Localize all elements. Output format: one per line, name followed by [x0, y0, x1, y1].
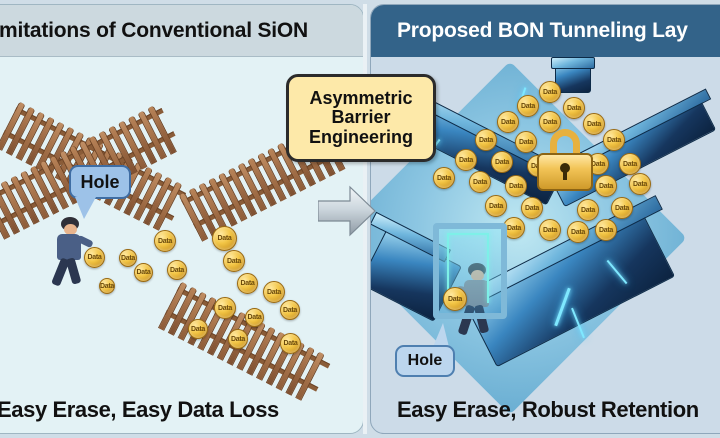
data-coin: Data — [603, 129, 625, 151]
data-coin: Data — [223, 250, 245, 272]
data-coin: Data — [245, 308, 264, 327]
data-coin: Data — [469, 171, 491, 193]
speech-bubble-hole-left-label: Hole — [80, 172, 119, 193]
speech-bubble-tail-right — [433, 323, 449, 347]
data-coin: Data — [237, 273, 258, 294]
data-coin: Data — [563, 97, 585, 119]
transition-arrow-icon — [318, 185, 376, 237]
tunnel-glow-line — [487, 233, 489, 303]
data-coin: Data — [280, 300, 300, 320]
data-coin: Data — [505, 175, 527, 197]
callout-line-1: Asymmetric — [309, 89, 412, 108]
callout-asymmetric-barrier-engineering: Asymmetric Barrier Engineering — [286, 74, 436, 162]
data-coin: Data — [263, 281, 285, 303]
panel-left-title-bar: mitations of Conventional SiON — [0, 5, 363, 57]
speech-bubble-hole-right: Hole — [395, 345, 455, 377]
speech-bubble-tail-left — [75, 197, 96, 219]
data-coin: Data — [485, 195, 507, 217]
padlock-keyhole — [560, 163, 570, 173]
figure-canvas: mitations of Conventional SiON — [0, 0, 720, 438]
data-coin: Data — [475, 129, 497, 151]
data-coin: Data — [619, 153, 641, 175]
data-coin: Data — [567, 221, 589, 243]
data-coin: Data — [539, 219, 561, 241]
data-coin: Data — [491, 151, 513, 173]
data-coin: Data — [228, 329, 248, 349]
data-coin: Data — [521, 197, 543, 219]
speech-bubble-hole-right-label: Hole — [408, 352, 443, 370]
data-coin: Data — [497, 111, 519, 133]
data-coin: Data — [629, 173, 651, 195]
panel-right-title: Proposed BON Tunneling Lay — [371, 19, 688, 43]
data-coin-carried: Data — [443, 287, 467, 311]
data-coin: Data — [515, 131, 537, 153]
data-coin: Data — [212, 226, 237, 251]
data-coin: Data — [433, 167, 455, 189]
data-coin: Data — [167, 260, 187, 280]
data-coin: Data — [84, 247, 105, 268]
callout-line-2: Barrier — [331, 108, 390, 127]
ice-corner-tower-top — [551, 57, 595, 69]
data-coin: Data — [595, 219, 617, 241]
panel-right-title-bar: Proposed BON Tunneling Lay — [371, 5, 720, 57]
data-coin: Data — [214, 297, 236, 319]
data-coin: Data — [134, 263, 153, 282]
panel-conventional-sion: mitations of Conventional SiON — [0, 4, 364, 434]
data-coin: Data — [455, 149, 477, 171]
data-coin: Data — [595, 175, 617, 197]
data-coin: Data — [99, 278, 115, 294]
data-coin: Data — [517, 95, 539, 117]
data-coin: Data — [539, 81, 561, 103]
tunnel-glow-line — [447, 233, 489, 235]
callout-line-3: Engineering — [309, 128, 413, 147]
data-coin: Data — [577, 199, 599, 221]
panel-right-caption: Easy Erase, Robust Retention — [371, 397, 720, 423]
panel-left-title: mitations of Conventional SiON — [0, 19, 308, 43]
data-coin: Data — [611, 197, 633, 219]
data-coin: Data — [188, 319, 208, 339]
panel-left-caption: Easy Erase, Easy Data Loss — [0, 397, 363, 423]
data-coin: Data — [280, 333, 301, 354]
panel-bon-tunneling-layer: Proposed BON Tunneling Lay — [370, 4, 720, 434]
data-coin: Data — [154, 230, 176, 252]
padlock-icon — [537, 129, 593, 191]
speech-bubble-hole-left: Hole — [69, 165, 131, 199]
data-coin: Data — [119, 249, 137, 267]
